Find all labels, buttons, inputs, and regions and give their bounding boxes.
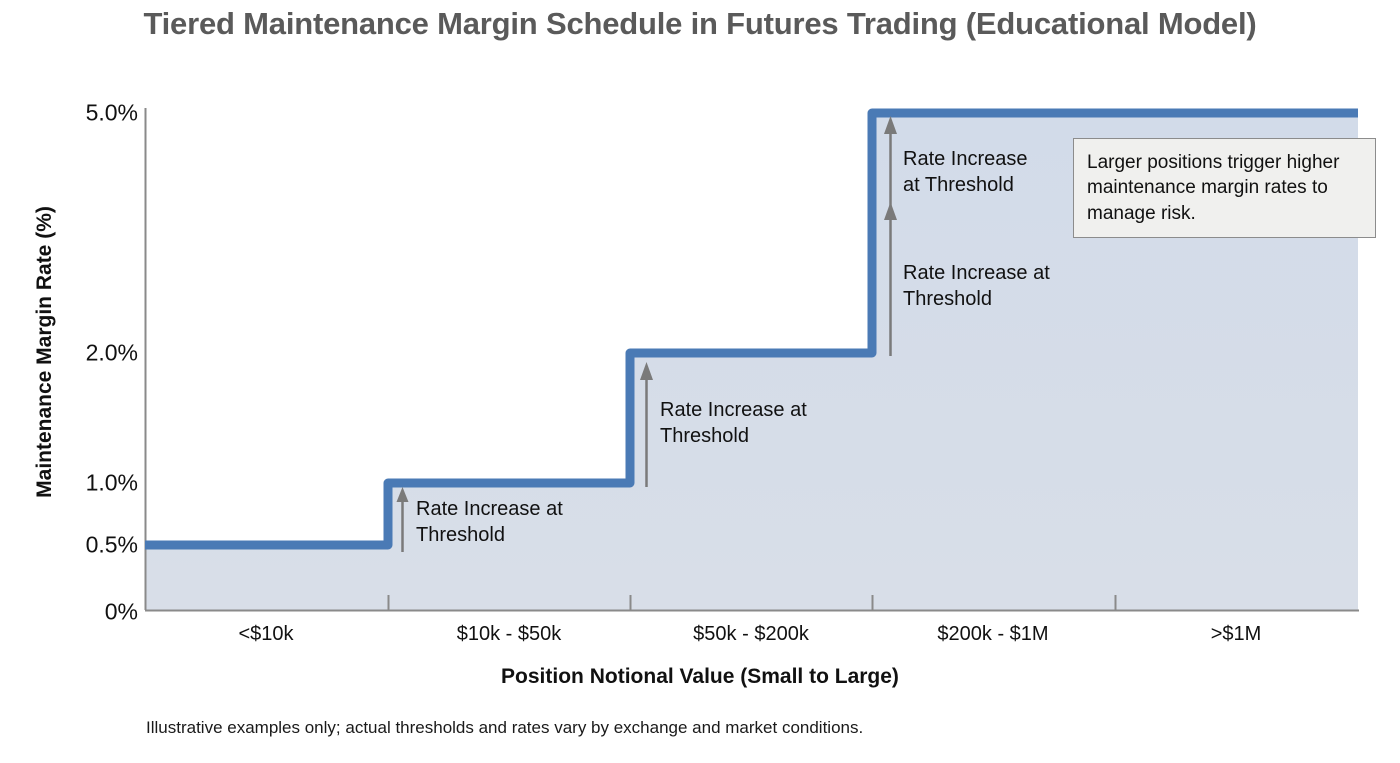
chart-figure: Tiered Maintenance Margin Schedule in Fu… — [0, 0, 1400, 763]
chart-footnote: Illustrative examples only; actual thres… — [146, 718, 863, 738]
callout-text: Larger positions trigger higher maintena… — [1087, 152, 1339, 224]
annotation-label-threshold-1: Rate Increase at Threshold — [416, 497, 563, 548]
annotation-label-threshold-3: Rate Increase at Threshold — [903, 147, 1028, 198]
annotation-label-threshold-2: Rate Increase at Threshold — [660, 398, 807, 449]
annotation-label-threshold-4: Rate Increase at Threshold — [903, 261, 1050, 312]
plot-area — [0, 0, 1400, 763]
callout-box: Larger positions trigger higher maintena… — [1073, 138, 1376, 238]
